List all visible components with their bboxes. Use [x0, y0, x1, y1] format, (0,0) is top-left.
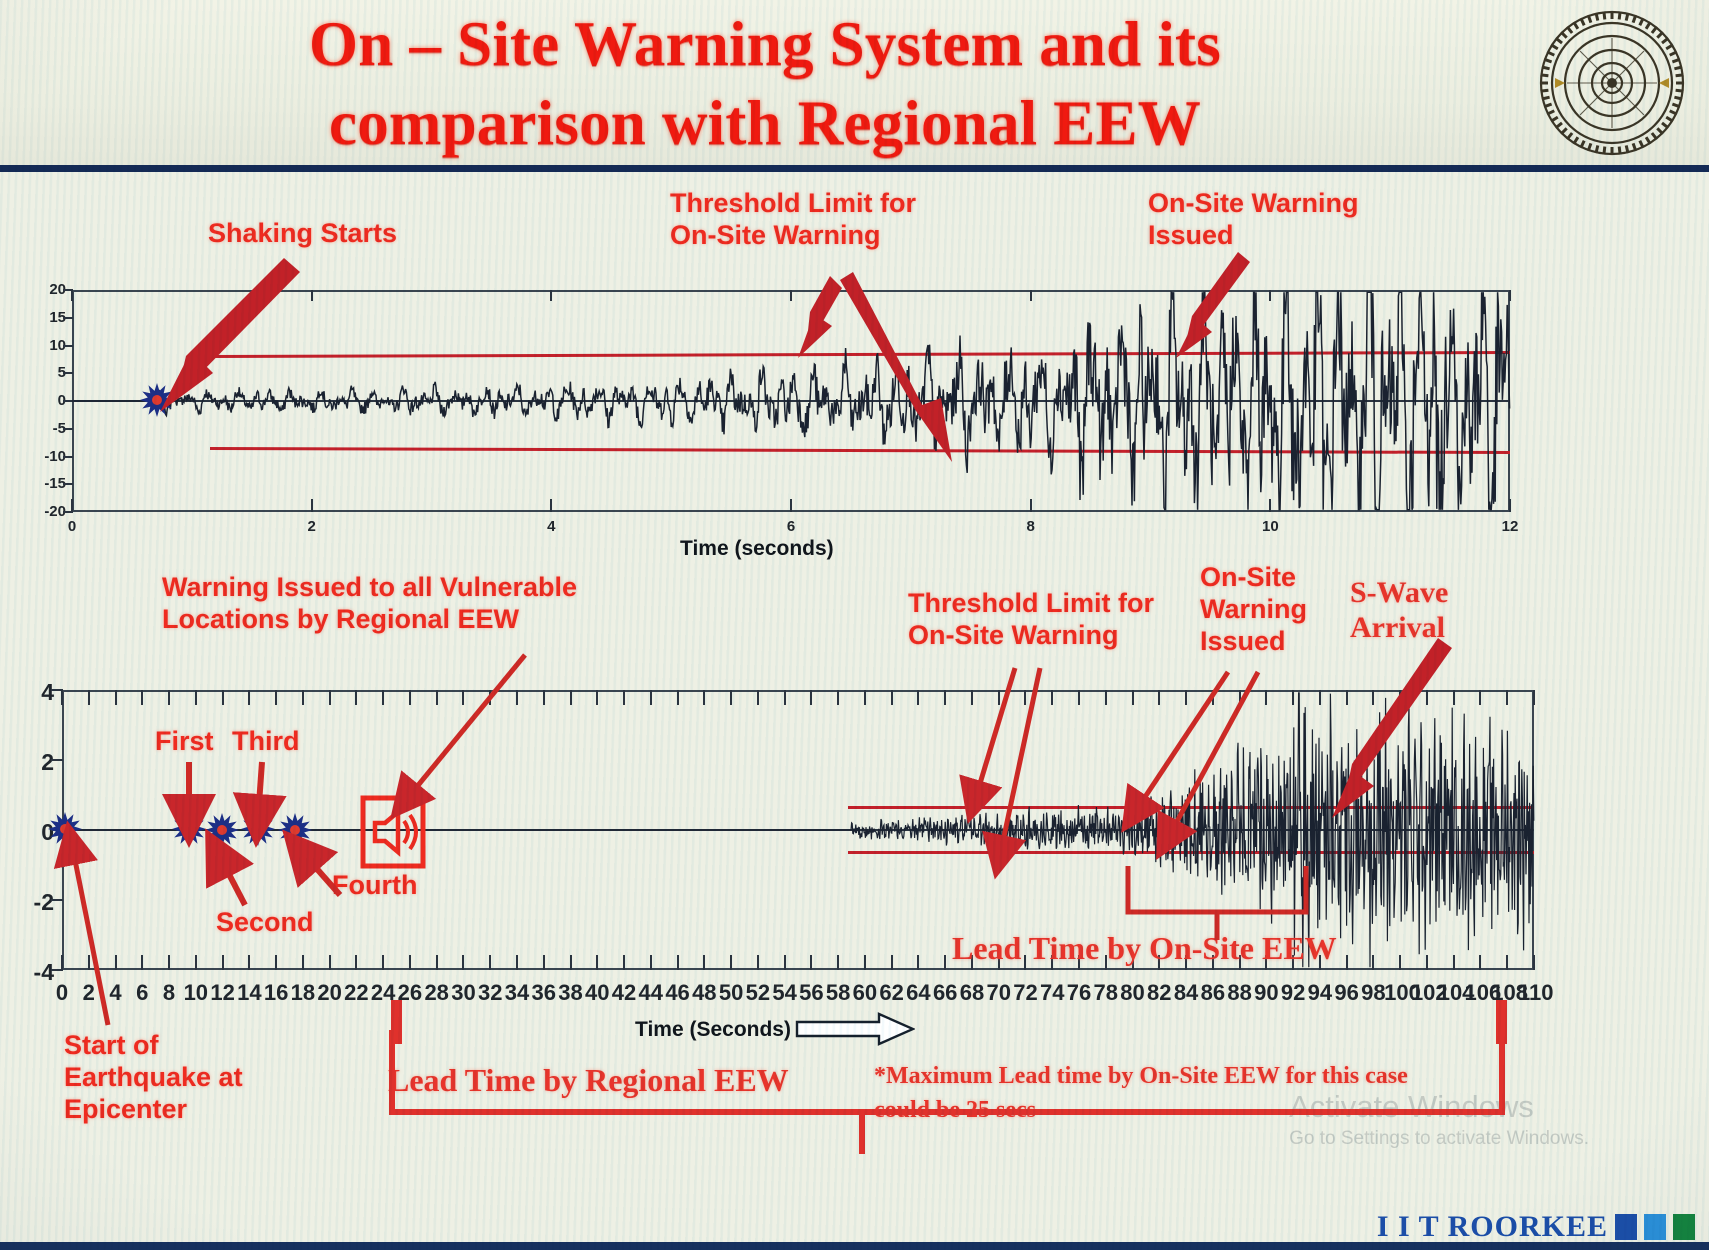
regional-warning-broadcast-icon: [360, 795, 426, 869]
footer-brand: I I T ROORKEE: [1377, 1210, 1695, 1244]
fourth-station-marker: [278, 813, 312, 847]
annotation-onsite-warning-issued-top: On-Site Warning Issued: [1148, 188, 1359, 252]
annotation-regional-warning: Warning Issued to all Vulnerable Locatio…: [162, 572, 577, 636]
annotation-first: First: [155, 726, 214, 758]
epicenter-marker: [48, 812, 82, 846]
slide-root: On – Site Warning System and its compari…: [0, 0, 1709, 1250]
annotation-lead-time-regional: Lead Time by Regional EEW: [388, 1062, 789, 1100]
first-station-marker: [172, 812, 206, 846]
second-station-marker: [205, 813, 239, 847]
title-line-1: On – Site Warning System and its: [309, 5, 1221, 84]
annotation-fourth: Fourth: [332, 870, 417, 902]
shaking-starts-marker: [140, 383, 174, 417]
annotation-third: Third: [232, 726, 300, 758]
annotation-s-wave-arrival: S-Wave Arrival: [1350, 575, 1448, 646]
annotation-onsite-warning-issued-bottom: On-Site Warning Issued: [1200, 562, 1307, 658]
brand-square-2: [1644, 1214, 1666, 1240]
annotation-footnote: *Maximum Lead time by On-Site EEW for th…: [874, 1060, 1408, 1127]
watermark-line-2: Go to Settings to activate Windows.: [1289, 1128, 1589, 1150]
page-title: On – Site Warning System and its compari…: [150, 4, 1380, 164]
annotation-threshold-limit-bottom: Threshold Limit for On-Site Warning: [908, 588, 1154, 652]
brand-square-1: [1615, 1214, 1637, 1240]
third-station-marker: [241, 812, 275, 846]
title-line-2: comparison with Regional EEW: [329, 84, 1201, 163]
annotation-start-of-earthquake: Start of Earthquake at Epicenter: [64, 1030, 243, 1126]
iit-roorkee-emblem-icon: [1537, 8, 1687, 158]
slide-bottom-bar: [0, 1242, 1709, 1250]
annotation-shaking-starts: Shaking Starts: [208, 218, 397, 250]
annotation-lead-time-onsite: Lead Time by On-Site EEW: [952, 930, 1337, 968]
annotation-second: Second: [216, 907, 314, 939]
slide-header: On – Site Warning System and its compari…: [0, 0, 1709, 172]
annotation-threshold-limit-top: Threshold Limit for On-Site Warning: [670, 188, 916, 252]
footer-brand-label: I I T ROORKEE: [1377, 1210, 1608, 1244]
brand-square-3: [1673, 1214, 1695, 1240]
